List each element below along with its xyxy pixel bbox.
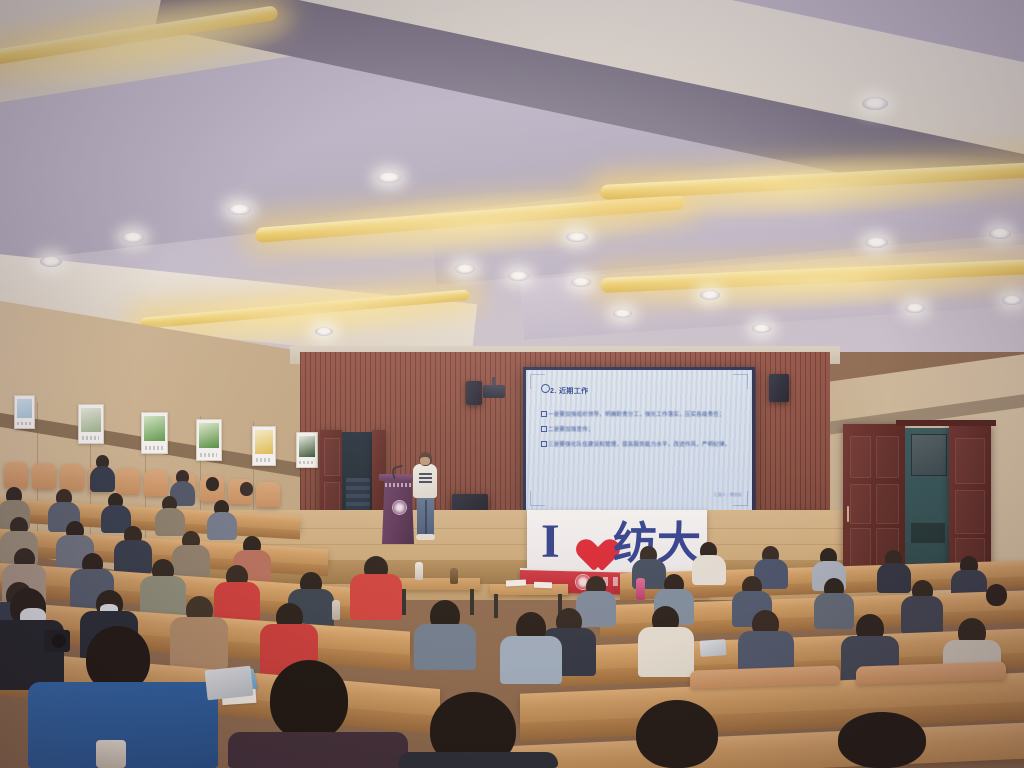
door-handle-icon[interactable] <box>847 506 849 522</box>
tablet-device[interactable] <box>205 666 254 701</box>
photo-image <box>17 399 33 419</box>
photo-image <box>81 408 101 432</box>
projection-screen: 2. 近期工作 一是要加强组织领导，明确职责分工，强化工作落实，压实各级责任； … <box>526 370 752 510</box>
front-table <box>490 584 568 595</box>
photo-image <box>255 430 273 454</box>
presenter-shirt-print <box>419 473 432 484</box>
corridor-behind-door <box>905 428 949 576</box>
downlight <box>566 232 588 242</box>
door-header-trim <box>896 420 996 426</box>
lecture-hall-photo: 2. 近期工作 一是要加强组织领导，明确职责分工，强化工作落实，压实各级责任； … <box>0 0 1024 768</box>
water-bottle <box>332 600 340 620</box>
projection-screen-frame: 2. 近期工作 一是要加强组织领导，明确职责分工，强化工作落实，压实各级责任； … <box>523 367 755 513</box>
downlight <box>315 327 333 336</box>
downlight <box>905 303 925 313</box>
wall-speaker-right <box>769 374 789 402</box>
downlight <box>228 204 251 215</box>
slide-checkbox-icon <box>541 426 547 432</box>
downlight <box>1002 295 1022 305</box>
downlight <box>122 232 144 243</box>
downlight <box>700 290 720 300</box>
wall-photo <box>252 426 276 466</box>
downlight <box>752 324 771 333</box>
downlight <box>40 256 62 267</box>
slide-corner-mark <box>733 374 748 389</box>
audience-body <box>500 636 562 684</box>
photo-caption <box>299 461 313 464</box>
camera-lens-icon <box>52 634 66 648</box>
downlight <box>455 264 475 274</box>
slide-bullet-1: 一是要加强组织领导，明确职责分工，强化工作落实，压实各级责任； <box>548 410 725 418</box>
wall-photo <box>78 404 104 444</box>
paper-sheet <box>506 579 526 586</box>
slide-bullet-2: 二是要加强宣传； <box>548 425 594 433</box>
downlight <box>862 97 888 110</box>
audience-body <box>414 624 476 670</box>
table-leg <box>494 594 498 618</box>
wall-speaker-left <box>466 381 482 405</box>
stage-banner: I 纺大 <box>527 510 707 578</box>
water-bottle-pink <box>636 578 645 600</box>
photo-image <box>299 436 316 457</box>
slide-footer: 汇报人：教务处 <box>714 492 742 498</box>
university-crest-icon <box>392 500 407 515</box>
heart-icon <box>569 526 607 560</box>
photo-caption <box>145 446 163 450</box>
paper-sheet <box>534 582 552 589</box>
wall-photo <box>14 395 35 429</box>
wall-photo <box>141 412 168 454</box>
water-bottle <box>415 562 423 580</box>
photo-caption <box>82 436 99 440</box>
door-far-right-leaf[interactable] <box>949 424 991 576</box>
wall-photo <box>296 432 318 468</box>
presenter-face <box>420 457 430 465</box>
audience-body <box>350 574 402 620</box>
front-table <box>398 578 480 590</box>
downlight <box>865 237 888 248</box>
slide-checkbox-icon <box>541 411 547 417</box>
slide-title: 2. 近期工作 <box>550 386 589 396</box>
slide-checkbox-icon <box>541 441 547 447</box>
downlight <box>571 277 591 287</box>
cup <box>96 740 126 768</box>
downlight <box>377 172 401 183</box>
photo-image <box>199 423 219 448</box>
table-leg <box>402 589 406 615</box>
corridor-shadow <box>911 523 945 543</box>
downlight <box>508 271 529 281</box>
tablet-device[interactable] <box>699 639 726 657</box>
presenter-leg-seam <box>425 500 427 534</box>
photo-image <box>144 416 165 441</box>
wall-photo <box>196 419 222 461</box>
lectern-nameplate <box>385 483 411 487</box>
slide-corner-mark <box>530 491 545 506</box>
projector-mount <box>492 377 495 387</box>
downlight <box>989 228 1011 239</box>
photo-caption <box>200 453 217 457</box>
ceiling <box>0 0 1024 352</box>
table-leg <box>470 589 474 615</box>
banner-letter-i: I <box>541 518 560 566</box>
photo-caption <box>256 458 271 462</box>
presenter-shoes <box>416 534 435 540</box>
corridor-window <box>911 434 947 476</box>
slide-bullet-3: 三是要强化队伍建设和管理，提高服务能力水平，改进作风，严明纪律。 <box>548 440 730 448</box>
photo-caption <box>17 422 30 425</box>
thermos <box>450 568 458 584</box>
downlight <box>613 309 632 318</box>
